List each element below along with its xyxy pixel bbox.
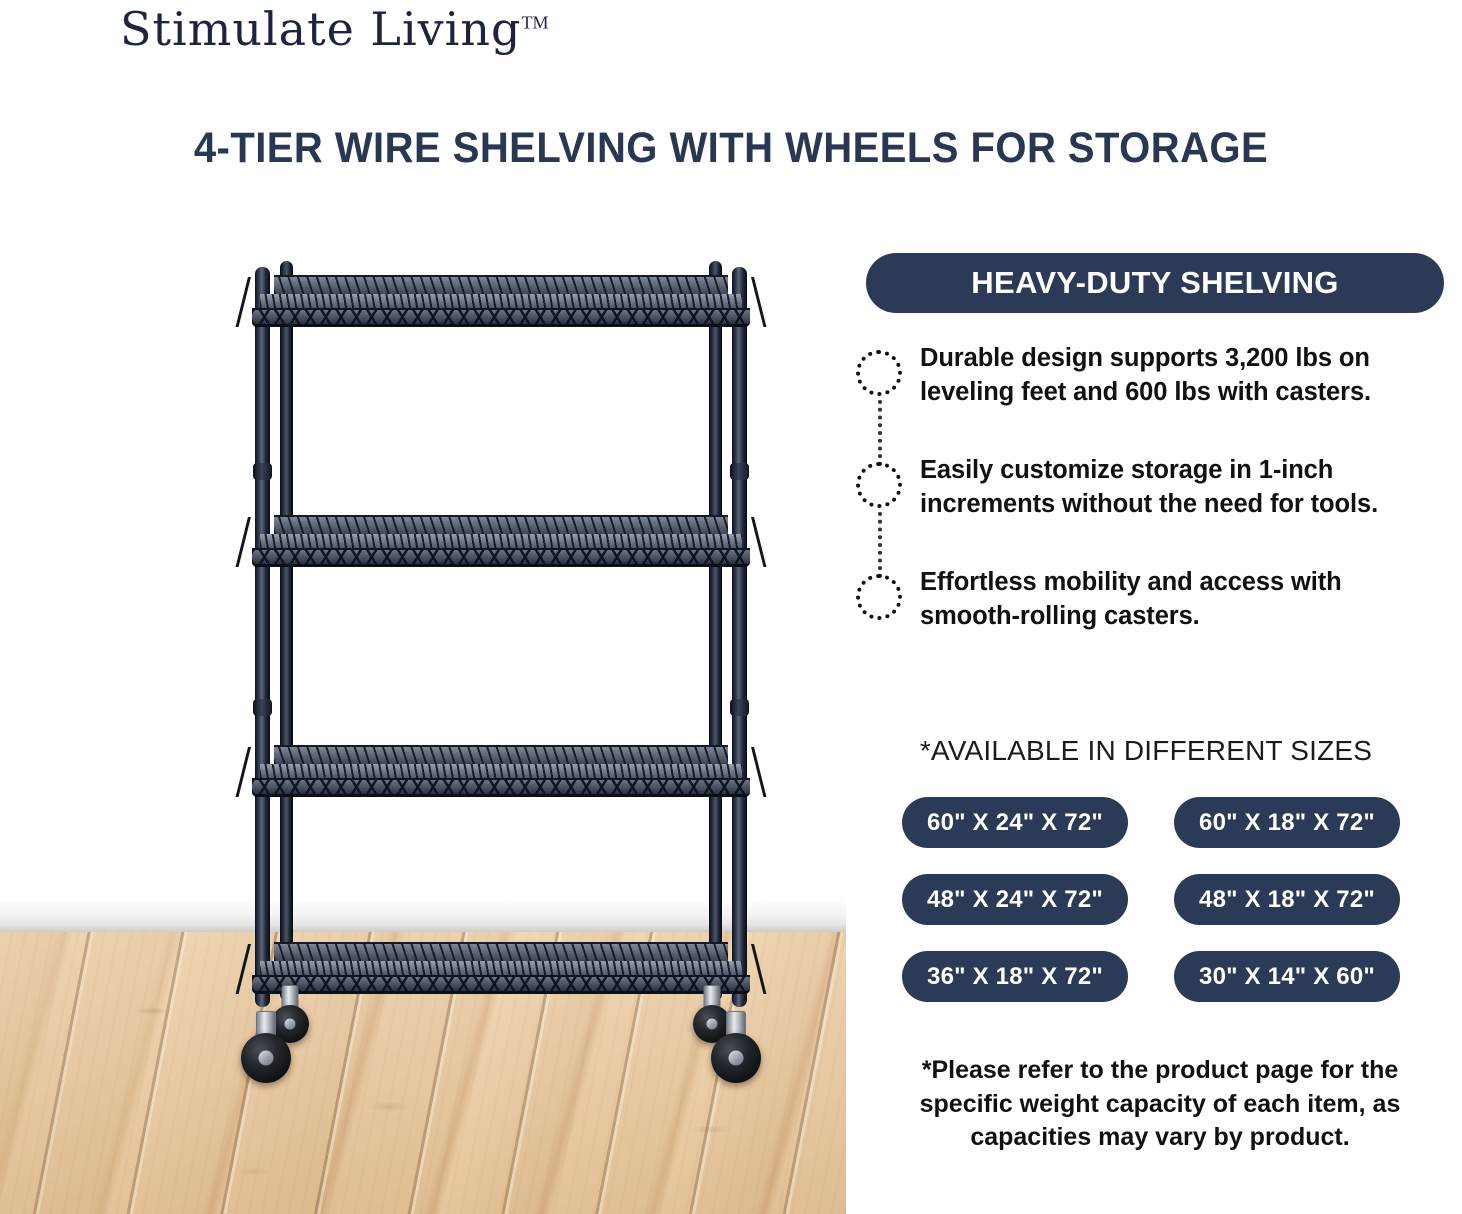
shelf-deck-back <box>274 275 728 296</box>
size-option-label: 60" X 18" X 72" <box>1199 809 1375 837</box>
sizes-heading: *AVAILABLE IN DIFFERENT SIZES <box>846 735 1446 767</box>
feature-item: Durable design supports 3,200 lbs on lev… <box>846 342 1446 410</box>
caster-hub <box>259 1051 274 1066</box>
size-option-pill[interactable]: 48" X 18" X 72" <box>1174 874 1400 925</box>
wire-shelving-unit <box>246 267 756 1007</box>
size-option-label: 48" X 24" X 72" <box>927 886 1103 914</box>
shelf-deck-front <box>252 778 750 797</box>
page-title: 4-TIER WIRE SHELVING WITH WHEELS FOR STO… <box>51 124 1411 173</box>
dotted-circle-icon <box>856 574 902 620</box>
feature-item: Easily customize storage in 1-inch incre… <box>846 454 1446 522</box>
shelf-deck-front <box>252 308 750 327</box>
brand-logo: Stimulate LivingTM <box>120 2 548 56</box>
badge-label: HEAVY-DUTY SHELVING <box>971 265 1338 301</box>
size-option-label: 36" X 18" X 72" <box>927 963 1103 991</box>
dotted-circle-icon <box>856 350 902 396</box>
infographic-page: Stimulate LivingTM 4-TIER WIRE SHELVING … <box>0 0 1462 1214</box>
size-option-pill[interactable]: 48" X 24" X 72" <box>902 874 1128 925</box>
rack-post-back-left <box>280 261 293 1001</box>
post-collar <box>253 699 272 716</box>
heavy-duty-badge: HEAVY-DUTY SHELVING <box>866 253 1444 313</box>
size-option-label: 48" X 18" X 72" <box>1199 886 1375 914</box>
size-option-pill[interactable]: 60" X 24" X 72" <box>902 797 1128 848</box>
post-collar <box>730 699 749 716</box>
brand-name: Stimulate Living <box>120 2 521 56</box>
size-options-grid: 60" X 24" X 72" 60" X 18" X 72" 48" X 24… <box>902 797 1402 1002</box>
dotted-circle-icon <box>856 462 902 508</box>
rack-post-back-right <box>709 261 722 1001</box>
shelf-deck-back <box>274 515 728 536</box>
post-collar <box>253 463 272 480</box>
rack-post-front-right <box>732 267 747 1007</box>
caster-tire <box>711 1033 761 1083</box>
size-option-pill[interactable]: 60" X 18" X 72" <box>1174 797 1400 848</box>
feature-text: Durable design supports 3,200 lbs on lev… <box>920 342 1446 410</box>
size-option-pill[interactable]: 30" X 14" X 60" <box>1174 951 1400 1002</box>
post-collar <box>730 463 749 480</box>
size-option-label: 30" X 14" X 60" <box>1199 963 1375 991</box>
size-option-label: 60" X 24" X 72" <box>927 809 1103 837</box>
feature-item: Effortless mobility and access with smoo… <box>846 566 1446 634</box>
trademark-symbol: TM <box>521 13 548 33</box>
shelf-deck-back <box>274 942 728 963</box>
size-option-pill[interactable]: 36" X 18" X 72" <box>902 951 1128 1002</box>
product-photo <box>0 205 846 1214</box>
shelf-deck-front <box>252 548 750 567</box>
caster-hub <box>285 1019 296 1030</box>
capacity-disclaimer: *Please refer to the product page for th… <box>890 1054 1430 1155</box>
feature-text: Easily customize storage in 1-inch incre… <box>920 454 1446 522</box>
shelf-deck-front <box>252 975 750 994</box>
feature-text: Effortless mobility and access with smoo… <box>920 566 1446 634</box>
caster-tire <box>241 1033 291 1083</box>
feature-list: Durable design supports 3,200 lbs on lev… <box>846 342 1446 633</box>
rack-post-front-left <box>255 267 270 1007</box>
caster-hub <box>729 1051 744 1066</box>
caster-hub <box>707 1019 718 1030</box>
shelf-deck-back <box>274 745 728 766</box>
